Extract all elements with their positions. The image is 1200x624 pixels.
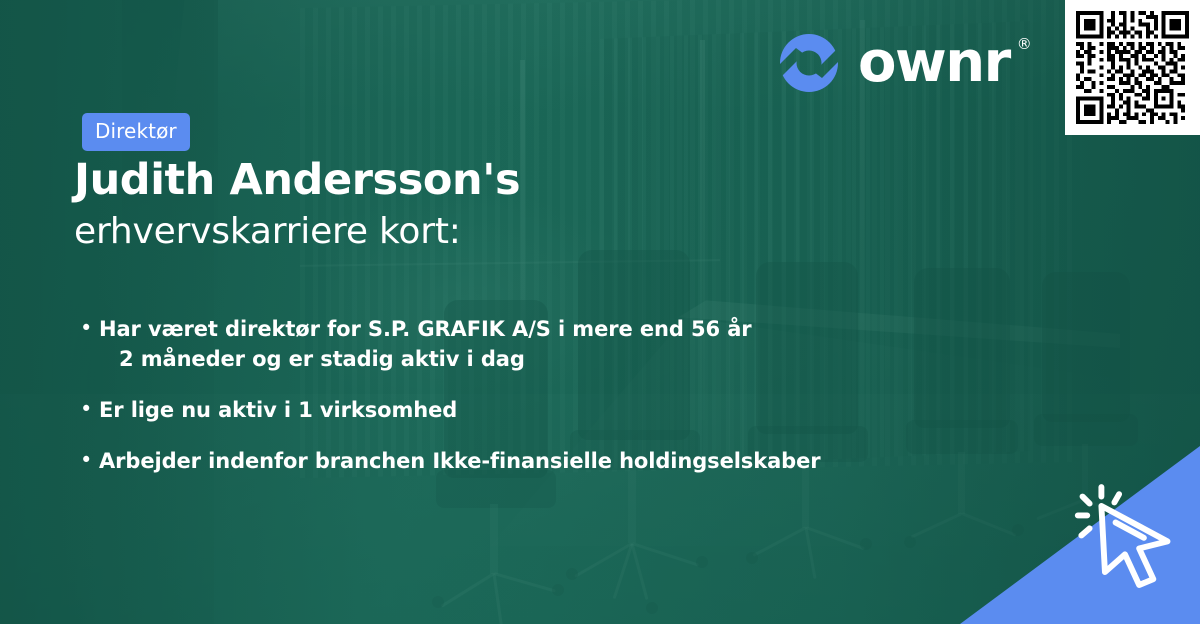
list-item: • Er lige nu aktiv i 1 virksomhed [80, 395, 980, 425]
list-item-text: Har været direktør for S.P. GRAFIK A/S i… [99, 314, 752, 374]
bullet-marker-icon: • [80, 446, 99, 475]
qr-code-icon [1076, 11, 1189, 124]
bullet-marker-icon: • [80, 314, 99, 343]
bullet-marker-icon: • [80, 395, 99, 424]
ownr-swirl-icon [778, 32, 840, 94]
career-facts-list: • Har været direktør for S.P. GRAFIK A/S… [80, 314, 980, 497]
click-cursor-icon [1066, 480, 1184, 598]
ownr-career-card: Direktør Judith Andersson's erhvervskarr… [0, 0, 1200, 624]
qr-code-panel[interactable] [1065, 0, 1200, 135]
list-item-text: Er lige nu aktiv i 1 virksomhed [99, 395, 457, 425]
page-subtitle: erhvervskarriere kort: [74, 212, 461, 252]
list-item-text: Arbejder indenfor branchen Ikke-finansie… [99, 446, 820, 476]
role-badge: Direktør [82, 113, 190, 151]
brand-wordmark-text: ownr [858, 30, 1010, 95]
list-item: • Arbejder indenfor branchen Ikke-finans… [80, 446, 980, 476]
brand-logo: ownr ® [778, 32, 1010, 94]
list-item-line: Har været direktør for S.P. GRAFIK A/S i… [99, 317, 752, 341]
list-item: • Har været direktør for S.P. GRAFIK A/S… [80, 314, 980, 374]
brand-wordmark: ownr ® [858, 35, 1010, 91]
page-title: Judith Andersson's [74, 157, 520, 203]
list-item-line-wrapped: 2 måneder og er stadig aktiv i dag [99, 344, 752, 374]
registered-trademark-icon: ® [1017, 37, 1032, 52]
card-content: Direktør Judith Andersson's erhvervskarr… [0, 0, 1200, 624]
